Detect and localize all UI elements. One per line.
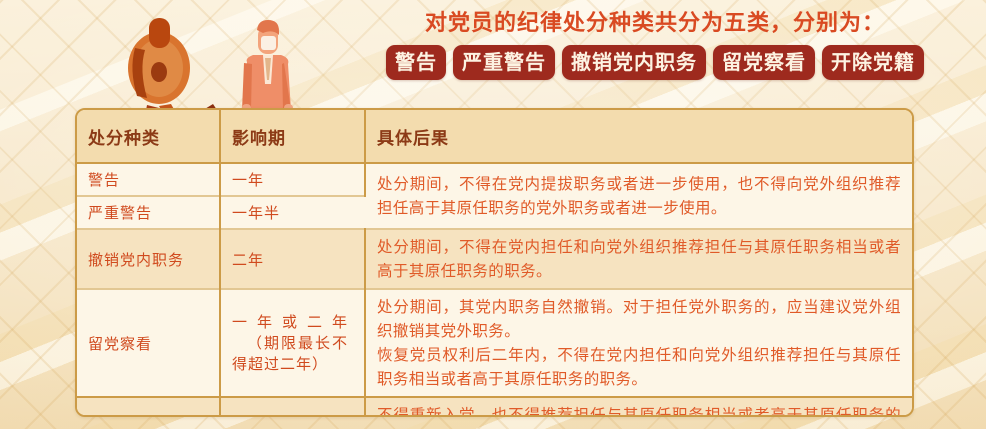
column-header-period: 影响期	[220, 110, 365, 163]
discipline-table: 处分种类 影响期 具体后果 警告 一年 处分期间，不得在党内提拔职务或者进一步使…	[77, 110, 912, 417]
infographic-root: 对党员的纪律处分种类共分为五类，分别为： 警告 严重警告 撤销党内职务 留党察看…	[0, 0, 986, 429]
header-block: 对党员的纪律处分种类共分为五类，分别为： 警告 严重警告 撤销党内职务 留党察看…	[330, 6, 980, 80]
cell-kind-removal-post: 撤销党内职务	[77, 229, 220, 289]
cell-period-expulsion: 受到处分后五年	[220, 397, 365, 417]
table-header: 处分种类 影响期 具体后果	[77, 110, 912, 163]
consequence-probation-p1: 处分期间，其党内职务自然撤销。对于担任党外职务的，应当建议党外组织撤销其党外职务…	[377, 295, 901, 343]
column-header-kind: 处分种类	[77, 110, 220, 163]
consequence-probation-p2: 恢复党员权利后二年内，不得在党内担任和向党外组织推荐担任与其原任职务相当或者高于…	[377, 343, 901, 391]
cell-consequence-probation: 处分期间，其党内职务自然撤销。对于担任党外职务的，应当建议党外组织撤销其党外职务…	[365, 289, 912, 397]
table-row: 警告 一年 处分期间，不得在党内提拔职务或者进一步使用，也不得向党外组织推荐担任…	[77, 163, 912, 196]
period-probation-line2: （期限最长不得超过二年）	[232, 333, 348, 375]
badge-warning[interactable]: 警告	[386, 45, 446, 80]
table-row: 留党察看 一年或二年 （期限最长不得超过二年） 处分期间，其党内职务自然撤销。对…	[77, 289, 912, 397]
cell-kind-expulsion: 开除党籍	[77, 397, 220, 417]
cell-kind-probation: 留党察看	[77, 289, 220, 397]
discipline-badge-row: 警告 严重警告 撤销党内职务 留党察看 开除党籍	[330, 45, 980, 80]
cell-period-warning: 一年	[220, 163, 365, 196]
table-header-row: 处分种类 影响期 具体后果	[77, 110, 912, 163]
cell-consequence-expulsion: 不得重新入党，也不得推荐担任与其原任职务相当或者高于其原任职务的党外职务。	[365, 397, 912, 417]
cell-kind-serious-warning: 严重警告	[77, 196, 220, 229]
cell-kind-warning: 警告	[77, 163, 220, 196]
badge-serious-warning[interactable]: 严重警告	[453, 45, 555, 80]
cell-period-probation: 一年或二年 （期限最长不得超过二年）	[220, 289, 365, 397]
column-header-consequence: 具体后果	[365, 110, 912, 163]
table-body: 警告 一年 处分期间，不得在党内提拔职务或者进一步使用，也不得向党外组织推荐担任…	[77, 163, 912, 417]
cell-period-removal-post: 二年	[220, 229, 365, 289]
discipline-table-container: 处分种类 影响期 具体后果 警告 一年 处分期间，不得在党内提拔职务或者进一步使…	[75, 108, 914, 417]
page-title: 对党员的纪律处分种类共分为五类，分别为：	[330, 6, 980, 40]
badge-removal-from-party-post[interactable]: 撤销党内职务	[562, 45, 706, 80]
period-probation-line1: 一年或二年	[232, 313, 348, 331]
cell-consequence-removal-post: 处分期间，不得在党内担任和向党外组织推荐担任与其原任职务相当或者高于其原任职务的…	[365, 229, 912, 289]
cell-period-serious-warning: 一年半	[220, 196, 365, 229]
badge-expulsion-from-party[interactable]: 开除党籍	[822, 45, 924, 80]
table-row: 开除党籍 受到处分后五年 不得重新入党，也不得推荐担任与其原任职务相当或者高于其…	[77, 397, 912, 417]
badge-probation-within-party[interactable]: 留党察看	[713, 45, 815, 80]
table-row: 撤销党内职务 二年 处分期间，不得在党内担任和向党外组织推荐担任与其原任职务相当…	[77, 229, 912, 289]
cell-consequence-warning-group: 处分期间，不得在党内提拔职务或者进一步使用，也不得向党外组织推荐担任高于其原任职…	[365, 163, 912, 229]
